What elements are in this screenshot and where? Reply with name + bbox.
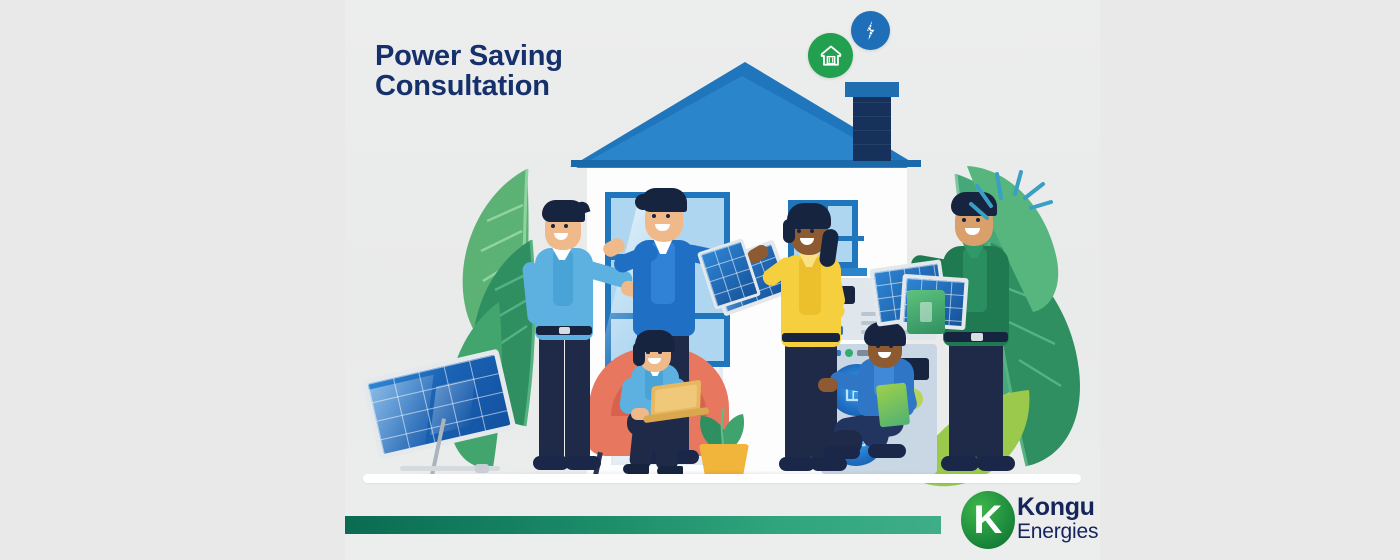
logo-wordmark: Kongu Energies bbox=[1017, 495, 1098, 543]
energy-badge[interactable] bbox=[851, 11, 890, 50]
idea-sparkle-icon bbox=[967, 170, 1053, 238]
content-panel: Power Saving Consultation bbox=[345, 0, 1100, 560]
logo-monogram: K bbox=[961, 491, 1015, 549]
clipboard bbox=[876, 383, 910, 428]
brand-logo[interactable]: K Kongu Energies bbox=[961, 488, 1099, 552]
logo-name-line1: Kongu bbox=[1017, 495, 1098, 521]
house-chimney bbox=[853, 88, 891, 161]
footer-accent-bar bbox=[345, 516, 941, 534]
poster-canvas: Power Saving Consultation bbox=[0, 0, 1400, 560]
person-light-blue-shirt bbox=[523, 200, 615, 480]
logo-name-line2: Energies bbox=[1017, 521, 1098, 543]
house-chimney-cap bbox=[845, 82, 899, 97]
lightning-bolt-icon bbox=[859, 19, 882, 42]
page-title: Power Saving Consultation bbox=[375, 42, 563, 102]
house-roof-eave bbox=[571, 160, 921, 167]
person-seated-laptop bbox=[613, 334, 717, 482]
green-battery-box bbox=[907, 290, 945, 334]
solar-panel-stand[interactable] bbox=[380, 378, 520, 483]
floor-line bbox=[363, 474, 1081, 483]
